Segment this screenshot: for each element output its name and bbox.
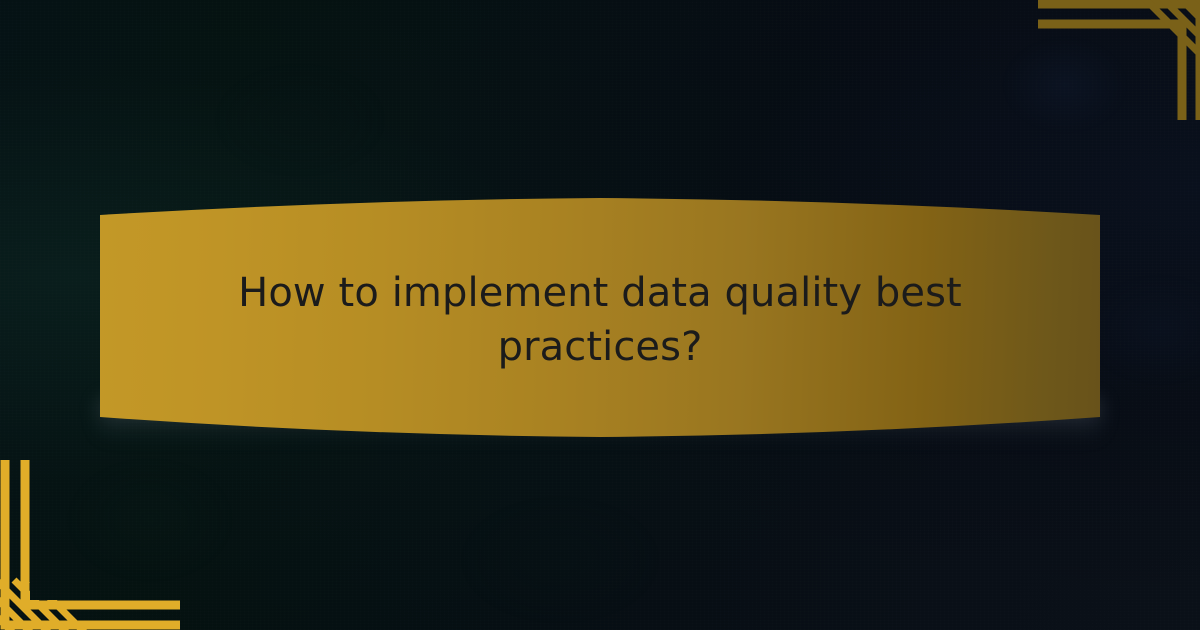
- page-title: How to implement data quality best pract…: [204, 266, 996, 375]
- title-banner: How to implement data quality best pract…: [100, 196, 1100, 440]
- social-card-canvas: How to implement data quality best pract…: [0, 0, 1200, 630]
- banner-content: How to implement data quality best pract…: [100, 196, 1100, 440]
- banner-card-surface: How to implement data quality best pract…: [100, 196, 1100, 440]
